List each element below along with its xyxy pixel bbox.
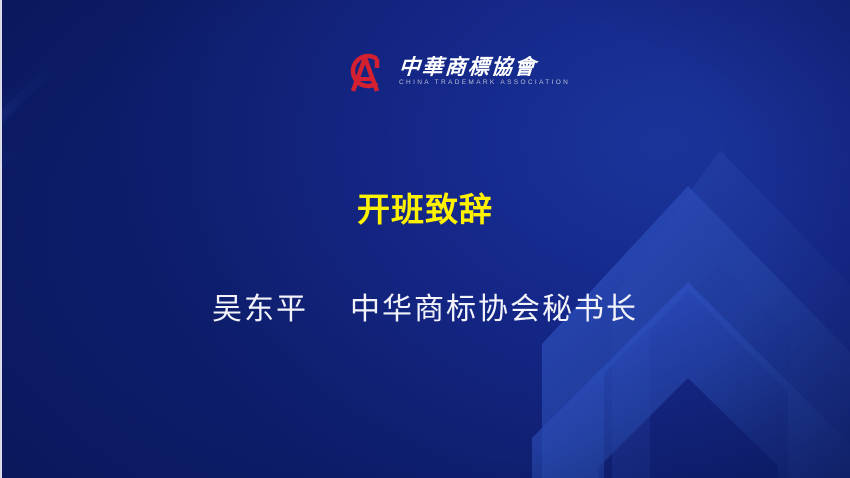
cta-monogram-icon — [340, 46, 390, 96]
slide-headline: 开班致辞 — [0, 192, 850, 228]
logo-english-name: CHINA TRADEMARK ASSOCIATION — [399, 80, 570, 87]
organization-logo: 中華商標協會 CHINA TRADEMARK ASSOCIATION — [340, 42, 530, 100]
speaker-name: 吴东平 — [212, 292, 308, 327]
slide-left-edge — [0, 0, 2, 478]
speaker-line: 吴东平中华商标协会秘书长 — [0, 293, 850, 328]
logo-chinese-name: 中華商標協會 — [398, 56, 571, 77]
logo-wordmark: 中華商標協會 CHINA TRADEMARK ASSOCIATION — [399, 56, 570, 87]
speaker-title: 中华商标协会秘书长 — [350, 292, 638, 327]
presentation-slide: 中華商標協會 CHINA TRADEMARK ASSOCIATION 开班致辞 … — [0, 0, 850, 478]
